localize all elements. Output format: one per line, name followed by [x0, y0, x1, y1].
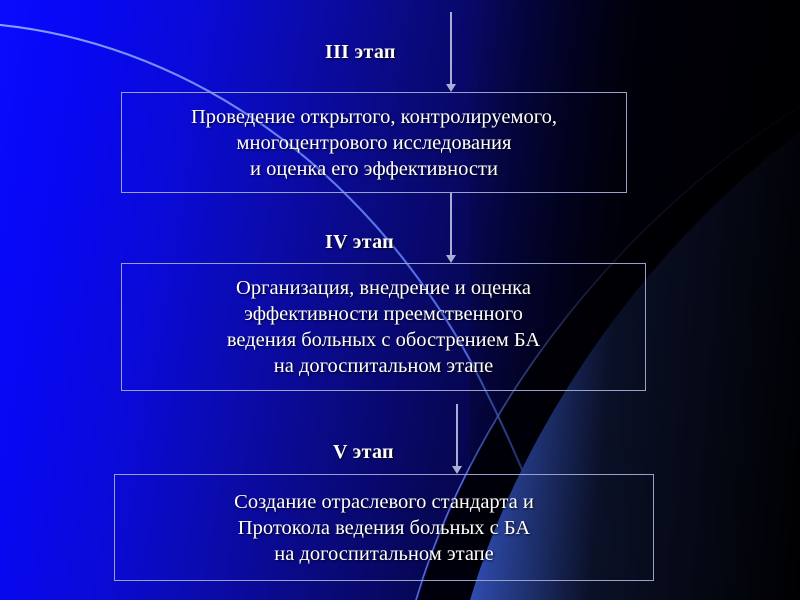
arrow-head-icon — [446, 255, 456, 263]
stage-box-5-line-1: Создание отраслевого стандарта и — [234, 489, 534, 515]
slide-canvas: III этап Проведение открытого, контролир… — [0, 0, 800, 600]
stage-box-4-line-3: ведения больных с обострением БА — [227, 327, 540, 353]
stage-box-5[interactable]: Создание отраслевого стандарта и Протоко… — [114, 474, 654, 581]
stage-box-3-line-3: и оценка его эффективности — [250, 156, 498, 182]
stage-box-4-line-2: эффективности преемственного — [244, 301, 523, 327]
arrow-shaft — [450, 193, 452, 256]
stage-box-3-line-2: многоцентрового исследования — [237, 130, 512, 156]
stage-label-3: III этап — [325, 41, 396, 64]
stage-label-4: IV этап — [325, 231, 394, 254]
arrow-stage-3-to-4 — [446, 193, 456, 263]
arrow-into-stage-3 — [446, 12, 456, 92]
stage-box-4-line-1: Организация, внедрение и оценка — [236, 275, 531, 301]
stage-box-3-line-1: Проведение открытого, контролируемого, — [191, 104, 557, 130]
stage-box-3[interactable]: Проведение открытого, контролируемого, м… — [121, 92, 627, 193]
arrow-shaft — [450, 12, 452, 85]
stage-box-4[interactable]: Организация, внедрение и оценка эффектив… — [121, 263, 646, 391]
stage-box-5-line-2: Протокола ведения больных с БА — [238, 515, 530, 541]
arrow-head-icon — [446, 84, 456, 92]
stage-box-4-line-4: на догоспитальном этапе — [274, 353, 493, 379]
arrow-stage-4-to-5 — [452, 404, 462, 474]
stage-box-5-line-3: на догоспитальном этапе — [274, 541, 493, 567]
stage-label-5: V этап — [333, 441, 394, 464]
arrow-head-icon — [452, 466, 462, 474]
arrow-shaft — [456, 404, 458, 467]
